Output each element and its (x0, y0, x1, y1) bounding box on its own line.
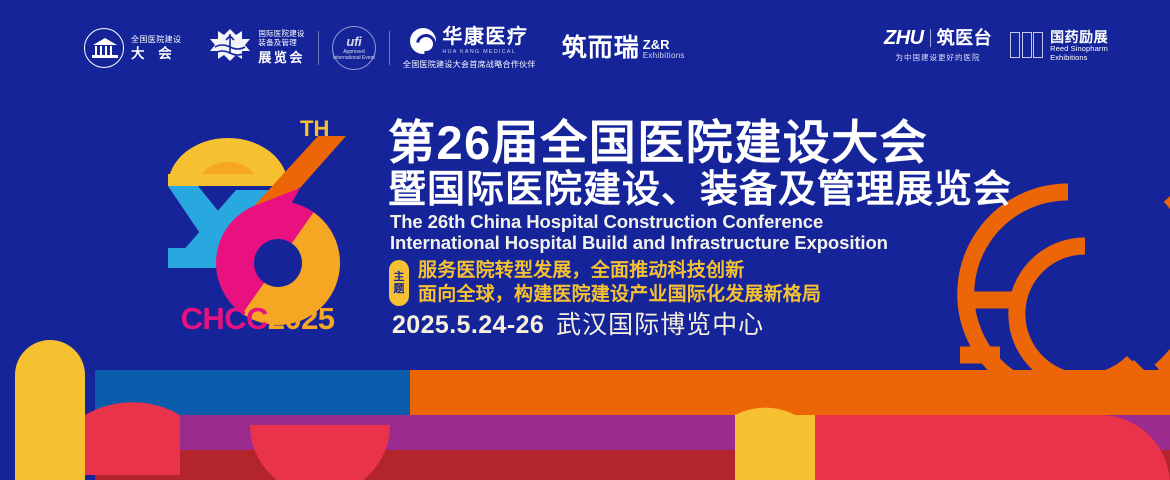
exhibition-line3: 展览会 (258, 50, 305, 65)
page-title-en-line1: The 26th China Hospital Construction Con… (390, 213, 823, 232)
band-blue (95, 370, 410, 415)
band-orange (410, 370, 1170, 415)
block-yellow-right (735, 415, 815, 480)
ufi-name: ufi (346, 35, 361, 48)
reed-cn: 国药励展 (1050, 29, 1108, 45)
band-purple (95, 415, 1170, 450)
logo-conference-seal: 全国医院建设 大 会 (84, 28, 181, 68)
pillar-yellow (15, 340, 85, 480)
divider (930, 29, 931, 47)
theme-badge-char1: 主 (394, 271, 405, 283)
page-title-cn-line1: 第26届全国医院建设大会 (388, 119, 928, 166)
huakang-logo-icon (410, 28, 436, 54)
chcc-seal-icon (84, 28, 124, 68)
block-red-right (815, 415, 1170, 480)
event-date-venue: 2025.5.24-26武汉国际博览中心 (392, 313, 764, 338)
reed-en2: Exhibitions (1050, 54, 1108, 63)
exhibition-line2: 装备及管理 (258, 39, 305, 48)
reed-sinopharm-icon (1010, 32, 1044, 60)
circle-red-left (85, 402, 180, 475)
page-title-cn-line2: 暨国际医院建设、装备及管理展览会 (388, 171, 1012, 209)
logo-reed-sinopharm: 国药励展 Reed Sinopharm Exhibitions (1010, 29, 1108, 62)
logo-zhu: ZHU 筑医台 为中国建设更好的医院 (884, 28, 992, 63)
logo-exhibition-mark: 国际医院建设 装备及管理 展览会 (209, 28, 305, 68)
huakang-sub: 全国医院建设大会首席战略合作伙伴 (403, 59, 536, 70)
huakang-cn: 华康医疗 (442, 27, 528, 47)
event-date: 2025.5.24-26 (392, 311, 544, 339)
conference-seal-line1: 全国医院建设 (131, 36, 181, 44)
ufi-icon: ufi Approved International Event (332, 26, 376, 70)
theme-badge-char2: 题 (394, 283, 405, 295)
circle-red-mid (250, 425, 390, 480)
conference-seal-line2: 大 会 (131, 47, 181, 61)
chcc-wordmark: CHCC2025 (150, 303, 365, 334)
event-venue: 武汉国际博览中心 (556, 311, 764, 339)
huakang-en: HUA KANG MEDICAL (442, 49, 528, 55)
zr-cn: 筑而瑞 (562, 36, 640, 61)
concentric-arcs-decoration (960, 192, 1170, 396)
chcc-wordmark-part1: CHCC (181, 301, 268, 336)
event-banner: 全国医院建设 大 会 (0, 0, 1170, 480)
logo-ufi: ufi Approved International Event (332, 26, 376, 70)
anniversary-superscript: TH (300, 116, 329, 141)
page-title-en-line2: International Hospital Build and Infrast… (390, 234, 888, 253)
divider (318, 31, 319, 65)
zhu-sub: 为中国建设更好的医院 (896, 52, 981, 63)
zr-en-main: Z&R (643, 38, 685, 52)
partner-logo-bar: 全国医院建设 大 会 (0, 0, 1170, 96)
theme-line1: 服务医院转型发展，全面推动科技创新 (418, 259, 821, 283)
ufi-sub: Approved International Event (333, 49, 375, 61)
theme-line2: 面向全球，构建医院建设产业国际化发展新格局 (418, 283, 821, 307)
chcc-wordmark-part2: 2025 (268, 301, 335, 336)
logo-group-left: 全国医院建设 大 会 (84, 26, 685, 70)
theme-block: 主 题 服务医院转型发展，全面推动科技创新 面向全球，构建医院建设产业国际化发展… (389, 259, 821, 307)
zhu-en: ZHU (884, 28, 924, 48)
theme-badge: 主 题 (389, 260, 409, 306)
zhu-cn: 筑医台 (937, 29, 993, 47)
logo-zr: 筑而瑞 Z&R Exhibitions (562, 36, 685, 61)
logo-group-right: ZHU 筑医台 为中国建设更好的医院 国药励展 Reed Sinopharm E… (884, 28, 1108, 63)
band-darkred (95, 450, 1170, 480)
snowflake-icon (209, 28, 251, 68)
divider (389, 31, 390, 65)
logo-huakang: 华康医疗 HUA KANG MEDICAL 全国医院建设大会首席战略合作伙伴 (403, 27, 536, 70)
zr-en-sub: Exhibitions (643, 52, 685, 60)
